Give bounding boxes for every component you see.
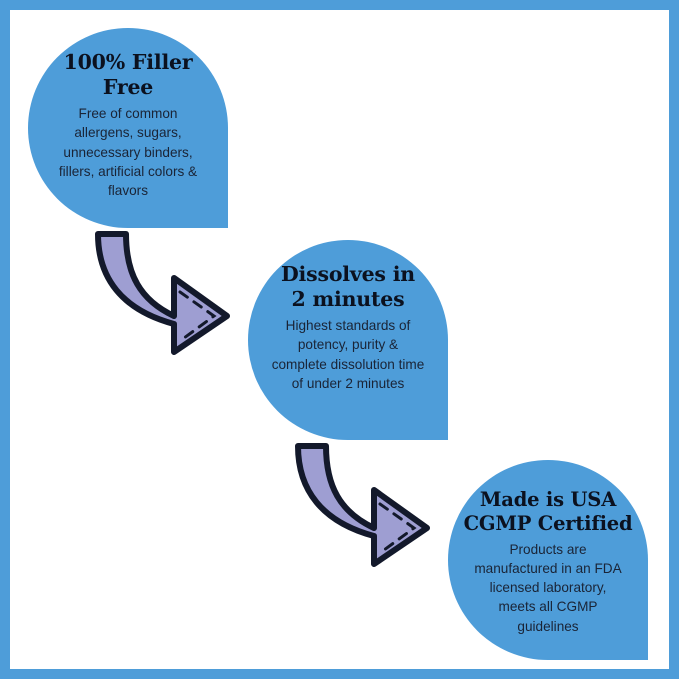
- step-bubble-2-body: Highest standards of potency, purity & c…: [258, 316, 438, 393]
- step-bubble-2-content: Dissolves in 2 minutes Highest standards…: [258, 262, 438, 393]
- step-bubble-1-content: 100% Filler Free Free of common allergen…: [42, 50, 214, 200]
- step-bubble-1-body: Free of common allergens, sugars, unnece…: [42, 104, 214, 200]
- infographic-canvas: 100% Filler Free Free of common allergen…: [0, 0, 679, 679]
- step-bubble-2-title: Dissolves in 2 minutes: [258, 262, 438, 312]
- curved-arrow-body-1: [98, 234, 227, 352]
- step-bubble-3-content: Made is USA CGMP Certified Products are …: [455, 488, 641, 636]
- curved-arrow-icon-1: [88, 228, 234, 361]
- step-bubble-1: 100% Filler Free Free of common allergen…: [28, 28, 228, 228]
- curved-arrow-body-2: [298, 446, 427, 564]
- step-bubble-3-body: Products are manufactured in an FDA lice…: [455, 540, 641, 636]
- step-bubble-2: Dissolves in 2 minutes Highest standards…: [248, 240, 448, 440]
- curved-arrow-icon-2: [288, 440, 434, 573]
- step-bubble-1-title: 100% Filler Free: [42, 50, 214, 100]
- step-bubble-3: Made is USA CGMP Certified Products are …: [448, 460, 648, 660]
- step-bubble-3-title: Made is USA CGMP Certified: [455, 488, 641, 536]
